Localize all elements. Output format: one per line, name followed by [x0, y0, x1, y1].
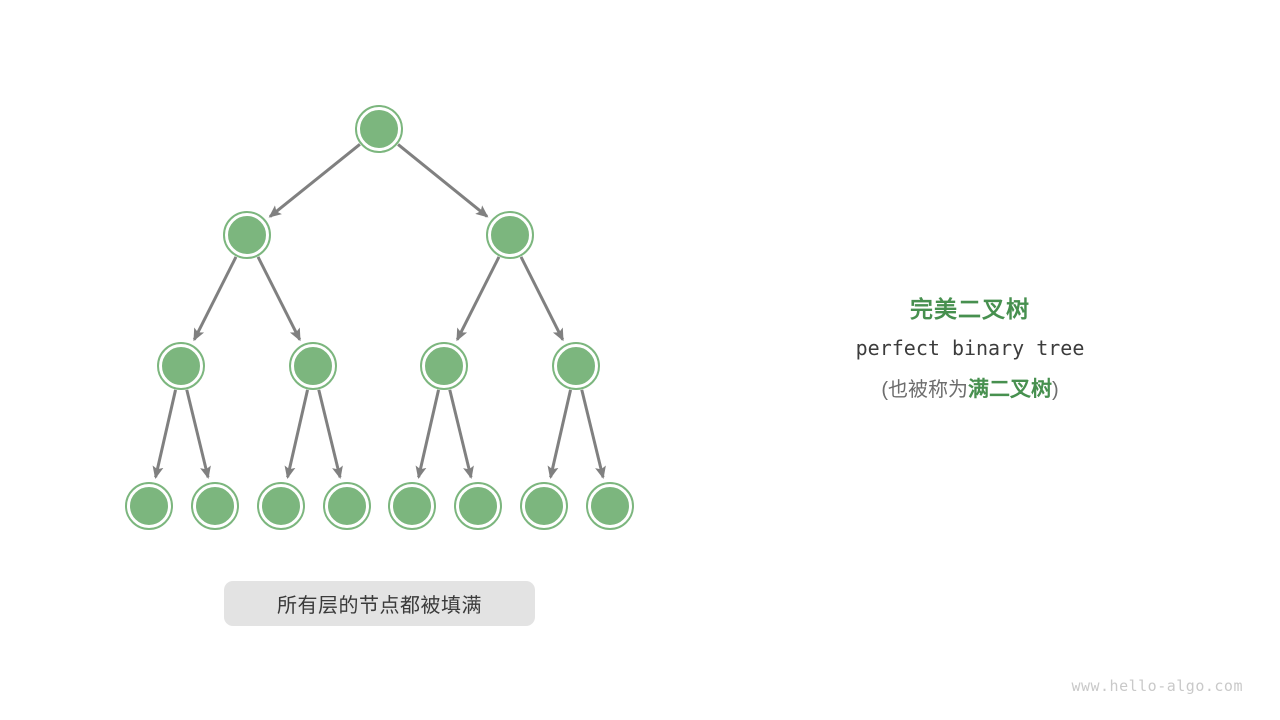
tree-edge: [582, 390, 603, 478]
tree-node[interactable]: [224, 212, 270, 258]
tree-node[interactable]: [192, 483, 238, 529]
tree-edge: [194, 257, 236, 340]
legend-subtitle: perfect binary tree: [790, 326, 1150, 370]
legend-alt-strong: 满二叉树: [968, 378, 1052, 401]
node-body: [227, 215, 267, 255]
legend-alt-suffix: ): [1052, 379, 1059, 401]
tree-edges: [156, 144, 603, 477]
tree-nodes: [126, 106, 633, 529]
tree-node[interactable]: [290, 343, 336, 389]
tree-node[interactable]: [324, 483, 370, 529]
tree-edge: [319, 390, 340, 478]
tree-edge: [288, 390, 308, 477]
node-body: [392, 486, 432, 526]
caption-text: 所有层的节点都被填满: [277, 589, 482, 618]
tree-edge: [419, 390, 439, 477]
legend-alt-prefix: (也被称为: [881, 379, 968, 401]
tree-edge: [398, 144, 487, 216]
tree-edge: [156, 390, 176, 477]
caption-pill: 所有层的节点都被填满: [224, 581, 535, 626]
tree-node[interactable]: [389, 483, 435, 529]
node-body: [195, 486, 235, 526]
tree-node[interactable]: [158, 343, 204, 389]
watermark: www.hello-algo.com: [1071, 677, 1243, 695]
tree-edge: [258, 257, 300, 340]
tree-node[interactable]: [487, 212, 533, 258]
node-body: [424, 346, 464, 386]
legend-block: 完美二叉树 perfect binary tree (也被称为满二叉树): [790, 292, 1150, 410]
tree-node[interactable]: [258, 483, 304, 529]
node-body: [327, 486, 367, 526]
legend-title: 完美二叉树: [790, 292, 1150, 326]
tree-edge: [551, 390, 571, 477]
node-body: [293, 346, 333, 386]
tree-node[interactable]: [553, 343, 599, 389]
tree-edge: [521, 257, 563, 340]
tree-node[interactable]: [356, 106, 402, 152]
tree-edge: [450, 390, 471, 478]
tree-node[interactable]: [587, 483, 633, 529]
node-body: [359, 109, 399, 149]
tree-node[interactable]: [421, 343, 467, 389]
tree-node[interactable]: [126, 483, 172, 529]
node-body: [490, 215, 530, 255]
legend-alternate-name: (也被称为满二叉树): [790, 370, 1150, 410]
tree-node[interactable]: [521, 483, 567, 529]
node-body: [458, 486, 498, 526]
node-body: [590, 486, 630, 526]
node-body: [524, 486, 564, 526]
node-body: [129, 486, 169, 526]
tree-node[interactable]: [455, 483, 501, 529]
diagram-canvas: 所有层的节点都被填满 完美二叉树 perfect binary tree (也被…: [0, 0, 1280, 720]
node-body: [161, 346, 201, 386]
tree-edge: [457, 257, 499, 340]
tree-edge: [187, 390, 208, 478]
node-body: [556, 346, 596, 386]
tree-edge: [270, 144, 360, 216]
node-body: [261, 486, 301, 526]
